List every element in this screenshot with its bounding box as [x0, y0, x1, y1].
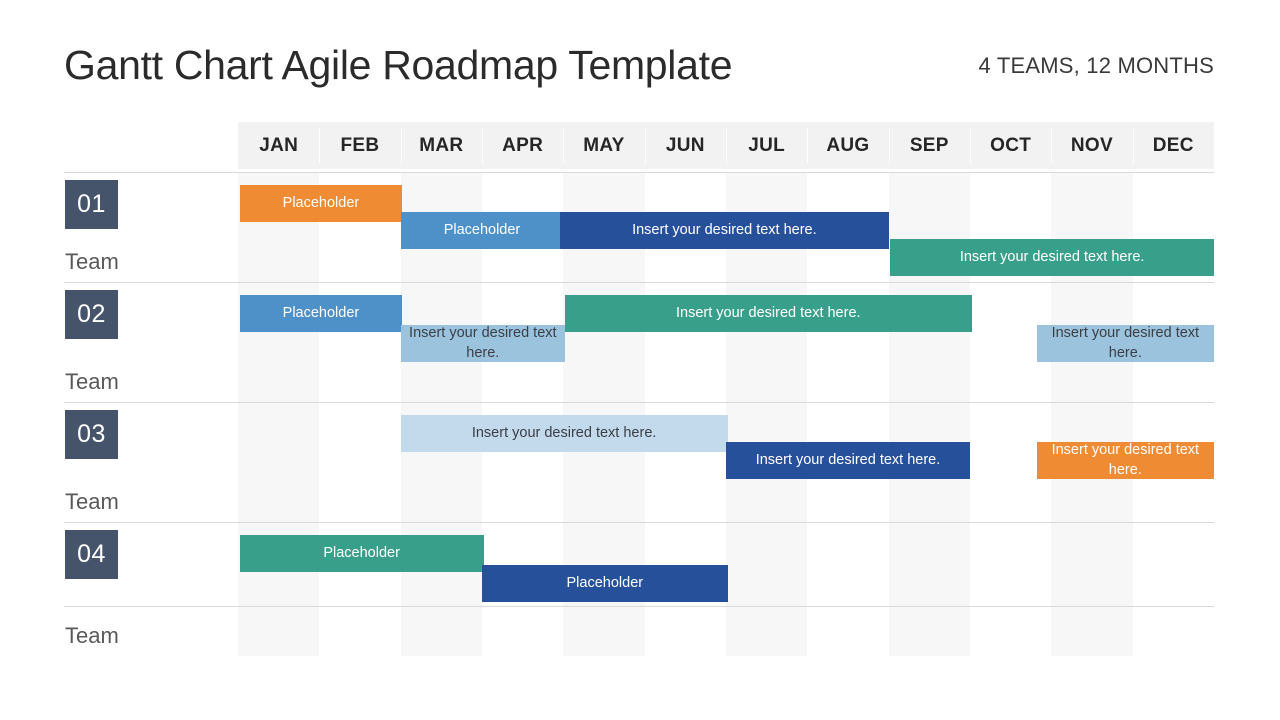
month-header-cell-feb: FEB: [319, 122, 400, 169]
task-bar[interactable]: Insert your desired text here.: [1037, 325, 1214, 362]
month-header-cell-apr: APR: [482, 122, 563, 169]
task-bar[interactable]: Placeholder: [240, 535, 484, 572]
team-word-label: Team: [65, 489, 119, 515]
month-header-cell-nov: NOV: [1051, 122, 1132, 169]
month-header-cell-jul: JUL: [726, 122, 807, 169]
team-number-badge: 03: [65, 410, 118, 459]
task-bar[interactable]: Placeholder: [482, 565, 728, 602]
team-label-03: 03Team: [64, 403, 238, 523]
team-word-label: Team: [65, 249, 119, 275]
month-header-row: JANFEBMARAPRMAYJUNJULAUGSEPOCTNOVDEC: [238, 122, 1214, 169]
task-bar[interactable]: Insert your desired text here.: [1037, 442, 1214, 479]
month-header-cell-dec: DEC: [1133, 122, 1214, 169]
task-bar[interactable]: Insert your desired text here.: [890, 239, 1214, 276]
team-word-label: Team: [65, 369, 119, 395]
month-header-cell-jan: JAN: [238, 122, 319, 169]
page-title: Gantt Chart Agile Roadmap Template: [64, 38, 732, 92]
page-header: Gantt Chart Agile Roadmap Template 4 TEA…: [64, 38, 1214, 96]
team-number-badge: 01: [65, 180, 118, 229]
task-bars-area: PlaceholderPlaceholderInsert your desire…: [238, 173, 1214, 283]
team-label-01: 01Team: [64, 173, 238, 283]
team-number-badge: 04: [65, 530, 118, 579]
task-bar[interactable]: Insert your desired text here.: [726, 442, 970, 479]
gantt-row-04: 04TeamPlaceholderPlaceholder: [64, 522, 1214, 657]
month-header-cell-oct: OCT: [970, 122, 1051, 169]
gantt-row-01: 01TeamPlaceholderPlaceholderInsert your …: [64, 172, 1214, 283]
gantt-chart: JANFEBMARAPRMAYJUNJULAUGSEPOCTNOVDEC 01T…: [64, 122, 1214, 656]
team-number-badge: 02: [65, 290, 118, 339]
task-bar[interactable]: Insert your desired text here.: [560, 212, 889, 249]
gantt-grid-body: 01TeamPlaceholderPlaceholderInsert your …: [64, 172, 1214, 656]
task-bars-area: Insert your desired text here.Insert you…: [238, 403, 1214, 523]
team-word-label: Team: [65, 623, 119, 649]
gantt-row-03: 03TeamInsert your desired text here.Inse…: [64, 402, 1214, 523]
team-label-04: 04Team: [64, 523, 238, 657]
task-bar[interactable]: Insert your desired text here.: [401, 415, 728, 452]
task-bar[interactable]: Placeholder: [401, 212, 564, 249]
team-label-02: 02Team: [64, 283, 238, 403]
grid-bottom-rule: [64, 606, 1214, 607]
page-subtitle: 4 TEAMS, 12 MONTHS: [979, 38, 1214, 94]
task-bar[interactable]: Placeholder: [240, 185, 403, 222]
task-bars-area: PlaceholderInsert your desired text here…: [238, 283, 1214, 403]
month-header-cell-aug: AUG: [807, 122, 888, 169]
task-bar[interactable]: Insert your desired text here.: [565, 295, 972, 332]
month-header-cell-mar: MAR: [401, 122, 482, 169]
task-bar[interactable]: Placeholder: [240, 295, 403, 332]
gantt-row-02: 02TeamPlaceholderInsert your desired tex…: [64, 282, 1214, 403]
task-bars-area: PlaceholderPlaceholder: [238, 523, 1214, 657]
month-header-cell-jun: JUN: [645, 122, 726, 169]
month-header-cell-sep: SEP: [889, 122, 970, 169]
month-header-cell-may: MAY: [563, 122, 644, 169]
task-bar[interactable]: Insert your desired text here.: [401, 325, 565, 362]
